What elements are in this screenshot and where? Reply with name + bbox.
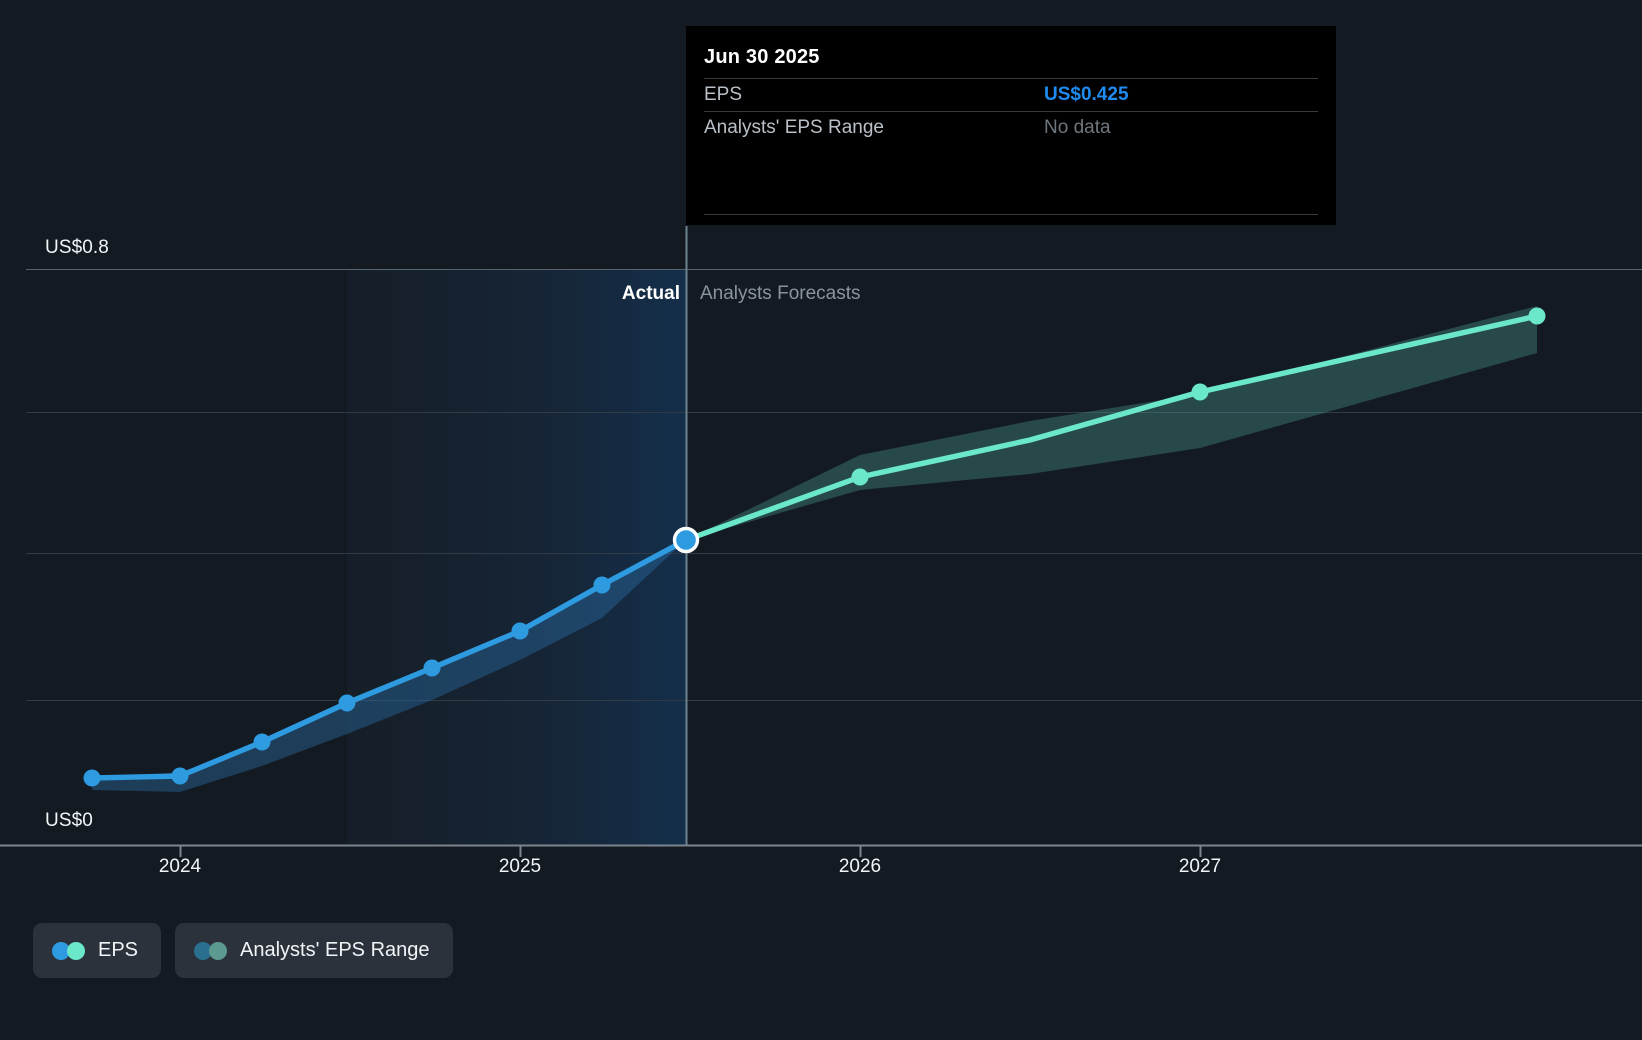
tooltip-row-analysts-range: Analysts' EPS Range No data [704, 111, 1318, 144]
tooltip-row-label: Analysts' EPS Range [704, 117, 1044, 139]
recent-actual-highlight-zone [347, 269, 686, 845]
data-point [339, 695, 356, 712]
tooltip-row-value: US$0.425 [1044, 84, 1129, 106]
data-point [852, 469, 869, 486]
data-point [254, 734, 271, 751]
forecast-region-label: Analysts Forecasts [700, 283, 861, 305]
chart-tooltip: Jun 30 2025 EPS US$0.425 Analysts' EPS R… [686, 26, 1336, 225]
legend-item-label: Analysts' EPS Range [240, 939, 429, 962]
data-point [594, 577, 611, 594]
y-axis-top-label: US$0.8 [45, 237, 109, 259]
legend-item-eps[interactable]: EPS [33, 923, 161, 978]
tooltip-footer-divider [704, 214, 1318, 215]
data-point [512, 623, 529, 640]
highlighted-data-point [675, 529, 698, 552]
forecast-range-band [686, 306, 1537, 540]
data-point [84, 770, 101, 787]
x-tick-label-2025: 2025 [499, 856, 541, 878]
data-point [1192, 384, 1209, 401]
legend-swatch-icon [194, 942, 227, 960]
data-point [424, 660, 441, 677]
eps-forecast-chart: US$0.8 US$0 2024 2025 2026 2027 Actual A… [0, 0, 1642, 1040]
legend-item-label: EPS [98, 939, 138, 962]
legend-item-analysts-eps-range[interactable]: Analysts' EPS Range [175, 923, 452, 978]
legend-swatch-icon [52, 942, 85, 960]
y-axis-bottom-label: US$0 [45, 810, 93, 832]
data-point [1529, 308, 1546, 325]
tooltip-row-eps: EPS US$0.425 [704, 78, 1318, 111]
data-point [172, 768, 189, 785]
tooltip-row-value: No data [1044, 117, 1111, 139]
actual-region-label: Actual [622, 283, 680, 305]
tooltip-row-label: EPS [704, 84, 1044, 106]
x-tick-label-2026: 2026 [839, 856, 881, 878]
x-tick-label-2027: 2027 [1179, 856, 1221, 878]
x-tickmarks [181, 845, 1201, 857]
tooltip-title: Jun 30 2025 [704, 46, 1318, 78]
x-tick-label-2024: 2024 [159, 856, 201, 878]
chart-legend: EPS Analysts' EPS Range [33, 923, 453, 978]
